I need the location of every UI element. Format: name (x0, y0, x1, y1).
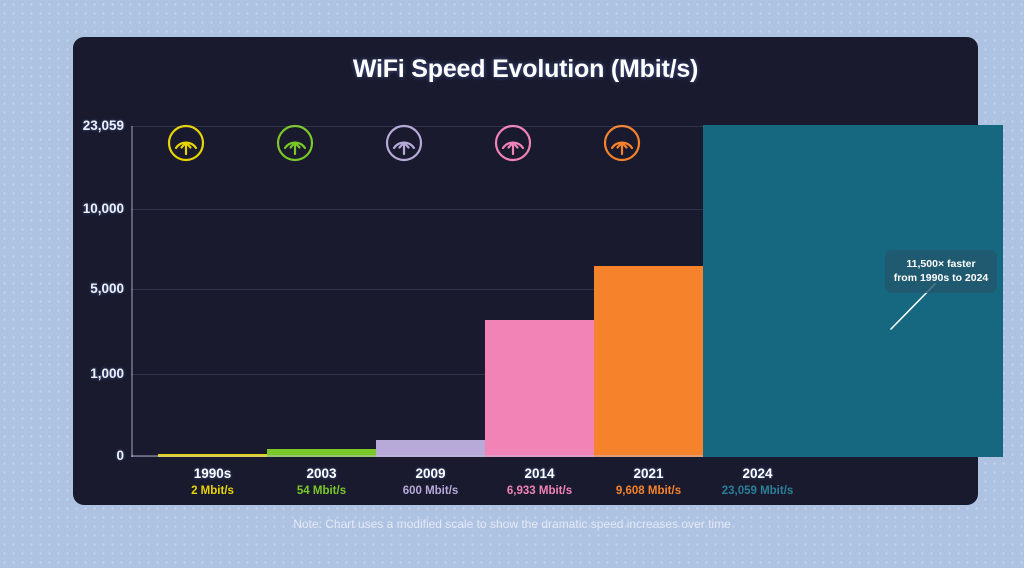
y-axis-line (131, 126, 133, 457)
y-axis-tick-0: 0 (73, 448, 124, 463)
x-tick-value: 600 Mbit/s (376, 485, 485, 497)
chart-card: WiFi Speed Evolution (Mbit/s) 01,0005,00… (73, 37, 978, 505)
x-tick-name: 2024 (703, 466, 812, 481)
x-tick-value: 6,933 Mbit/s (485, 485, 594, 497)
x-axis-tick-1990s: 1990s2 Mbit/s (158, 466, 267, 497)
x-axis-tick-2003: 200354 Mbit/s (267, 466, 376, 497)
x-axis-tick-2014: 20146,933 Mbit/s (485, 466, 594, 497)
annotation-callout: 11,500× faster from 1990s to 2024 (885, 250, 997, 293)
y-axis-tick-10000: 10,000 (73, 201, 124, 216)
annotation-line-2: from 1990s to 2024 (894, 272, 989, 284)
x-tick-value: 2 Mbit/s (158, 485, 267, 497)
x-tick-value: 23,059 Mbit/s (703, 485, 812, 497)
x-axis-tick-2009: 2009600 Mbit/s (376, 466, 485, 497)
x-tick-value: 9,608 Mbit/s (594, 485, 703, 497)
x-axis-tick-2024: 202423,059 Mbit/s (703, 466, 812, 497)
x-tick-value: 54 Mbit/s (267, 485, 376, 497)
bar-2014[interactable] (485, 320, 594, 457)
chart-title: WiFi Speed Evolution (Mbit/s) (73, 55, 978, 84)
chart-footnote: Note: Chart uses a modified scale to sho… (0, 517, 1024, 531)
y-axis-tick-23059: 23,059 (73, 118, 124, 133)
x-tick-name: 2003 (267, 466, 376, 481)
bar-2021[interactable] (594, 266, 703, 457)
x-tick-name: 2021 (594, 466, 703, 481)
x-tick-name: 2009 (376, 466, 485, 481)
x-tick-name: 2014 (485, 466, 594, 481)
y-axis-tick-1000: 1,000 (73, 366, 124, 381)
y-axis-tick-5000: 5,000 (73, 281, 124, 296)
x-axis-tick-2021: 20219,608 Mbit/s (594, 466, 703, 497)
x-tick-name: 1990s (158, 466, 267, 481)
annotation-line-1: 11,500× faster (906, 258, 975, 270)
